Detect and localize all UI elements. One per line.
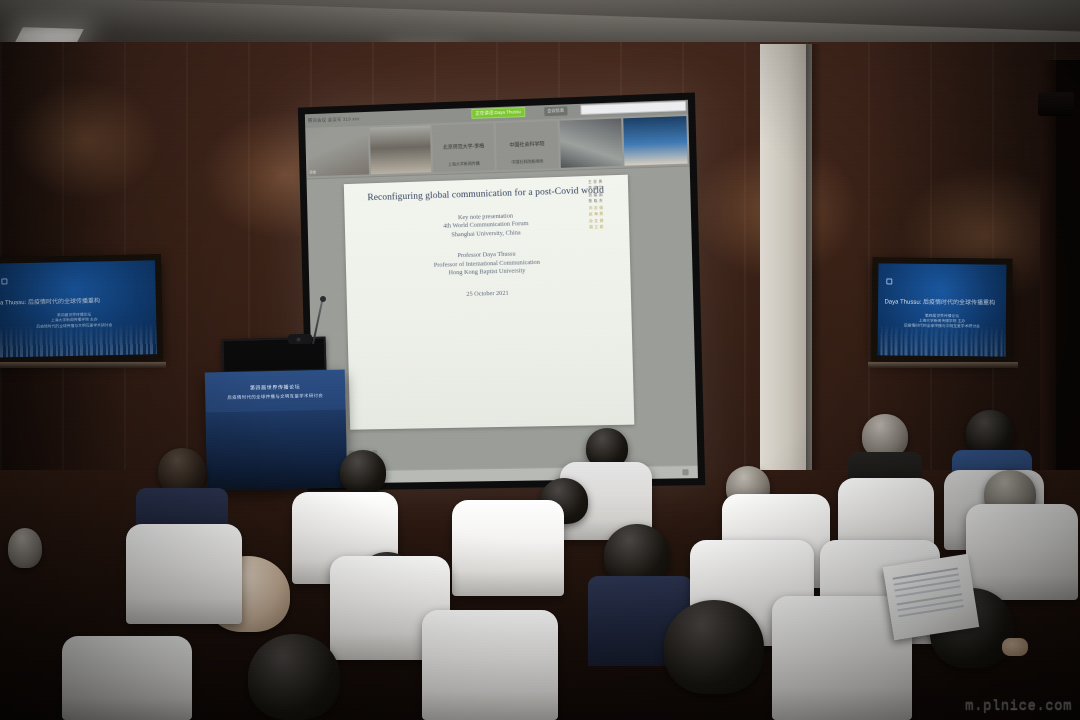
roster-item: 孙 文 博 [589,218,626,224]
participant-thumbnail-caption: 中国社会科学院 [496,140,558,149]
roster-item: 王 亚 男 [588,179,625,185]
microphone-head-icon [320,296,326,302]
meeting-info-badge[interactable]: 会议信息 [544,106,567,116]
wall-monitor-right-screen: Daya Thussu: 后疫情时代的全球传播重构 第四届世界传播论坛 上海大学… [878,263,1007,356]
door-panel[interactable] [1056,60,1080,480]
audience-head [340,450,386,494]
podium-camera-icon [288,334,312,345]
participant-thumbnail-caption-2: 上海大学新闻传播 [433,160,494,168]
monitor-right-title-cn: 后疫情时代的全球传播重构 [923,300,995,307]
handout-papers [883,554,980,641]
roster-item: 李 明 华 [588,185,625,191]
wall-pillar-shadow [806,44,822,484]
taskbar-tray-icon[interactable] [682,469,688,475]
monitor-left-logo-icon [1,278,7,284]
participant-thumbnail-caption-2: 中国社科院新闻所 [497,158,559,166]
monitor-left-shelf [0,362,166,368]
roster-item: 陈 晓 东 [589,198,626,204]
slide-date: 25 October 2021 [357,287,620,301]
audience-chair [452,500,564,596]
projected-desktop: 腾讯会议 会议号 319 xxx 正在讲话:Daya Thussu 会议信息 讲… [305,100,698,484]
audience-head [248,634,340,720]
podium-front-face [206,410,348,491]
meeting-app-title: 腾讯会议 会议号 319 xxx [308,116,360,124]
monitor-right-title-en: Daya Thussu: [884,300,921,306]
roster-item: 张 建 国 [588,192,625,198]
audience-chair [966,504,1078,600]
shared-screen-area: Reconfiguring global communication for a… [307,167,698,471]
participant-thumbnail-label: 讲者 [309,170,316,175]
monitor-left-skyline-graphic [0,322,157,357]
monitor-right-skyline-graphic [878,324,1006,357]
audience-chair [62,636,192,720]
audience-head [8,528,42,568]
watermark: m.plnice.com [965,698,1072,714]
lectern-podium: 第四届世界传播论坛 后疫情时代的全球传播与文明互鉴学术研讨会 [205,370,347,491]
podium-banner-line-2: 后疫情时代的全球传播与文明互鉴学术研讨会 [209,393,341,402]
monitor-right-logo-icon [886,278,892,284]
roster-item: 周 立 新 [589,225,627,231]
participant-thumbnail[interactable]: 北京师范大学-李梅 上海大学新闻传播 [432,123,495,172]
speaking-indicator-badge: 正在讲话:Daya Thussu [471,107,525,119]
slide-presenter-block: Professor Daya Thussu Professor of Inter… [356,248,620,281]
audience-head [664,600,764,694]
wall-monitor-left-screen: a Thussu: 后疫情时代的全球传播重构 第四届世界传播论坛 上海大学新闻传… [0,260,157,357]
conference-hall-scene: a Thussu: 后疫情时代的全球传播重构 第四届世界传播论坛 上海大学新闻传… [0,0,1080,720]
monitor-right-title: Daya Thussu: 后疫情时代的全球传播重构 [884,297,999,307]
monitor-left-title: a Thussu: 后疫情时代的全球传播重构 [0,294,148,306]
browser-url-bar[interactable] [581,101,686,115]
participant-thumbnail[interactable] [624,116,688,166]
wall-monitor-right: Daya Thussu: 后疫情时代的全球传播重构 第四届世界传播论坛 上海大学… [871,257,1012,362]
participant-thumbnail[interactable]: 中国社会科学院 中国社科院新闻所 [496,121,559,170]
monitor-left-title-cn: 后疫情时代的全球传播重构 [28,298,100,306]
participant-thumbnail[interactable] [559,118,623,167]
slide-stage: Reconfiguring global communication for a… [307,167,698,471]
wall-pillar [760,44,812,484]
wall-monitor-left: a Thussu: 后疫情时代的全球传播重构 第四届世界传播论坛 上海大学新闻传… [0,254,163,364]
audience-chair [126,524,242,624]
participant-thumbnail-caption: 北京师范大学-李梅 [433,142,494,151]
projection-screen: 腾讯会议 会议号 319 xxx 正在讲话:Daya Thussu 会议信息 讲… [298,92,705,490]
monitor-right-shelf [868,362,1018,368]
roster-item: 赵 海 燕 [589,211,626,217]
audience-hand [1002,638,1028,656]
podium-banner: 第四届世界传播论坛 后疫情时代的全球传播与文明互鉴学术研讨会 [209,376,342,409]
monitor-left-title-en: a Thussu: [0,300,26,307]
podium-banner-line-1: 第四届世界传播论坛 [209,383,341,393]
slide-subtitle-block: Key note presentation 4th World Communic… [355,209,619,242]
audience-chair [422,610,558,720]
ceiling-speaker-icon [1038,92,1074,116]
participant-thumbnail[interactable]: 讲者 [307,128,369,177]
presentation-slide: Reconfiguring global communication for a… [344,175,634,430]
participant-thumbnail[interactable] [369,125,431,174]
participant-roster-panel[interactable]: 王 亚 男 李 明 华 张 建 国 陈 晓 东 刘 志 强 赵 海 燕 孙 文 … [588,179,627,231]
slide-title: Reconfiguring global communication for a… [354,184,618,205]
roster-item: 刘 志 强 [589,205,626,211]
